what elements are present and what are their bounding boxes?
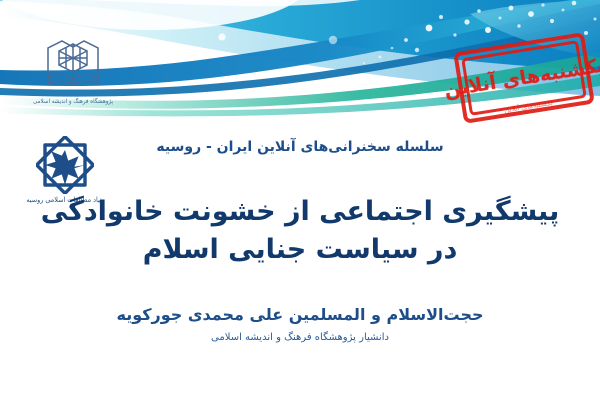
speaker-affiliation: دانشیار پژوهشگاه فرهنگ و اندیشه اسلامی bbox=[0, 331, 600, 345]
event-poster: پژوهشگاه فرهنگ و اندیشه اسلامی بنیاد مطا… bbox=[0, 0, 600, 400]
stamp-label: یکشنبه‌های آنلاین bbox=[443, 56, 600, 100]
logo-pazhuheshgah-caption: پژوهشگاه فرهنگ و اندیشه اسلامی bbox=[22, 98, 123, 106]
page-title: پیشگیری اجتماعی از خشونت خانوادگی در سیا… bbox=[0, 193, 600, 270]
speaker-name: حجت‌الاسلام و المسلمین علی محمدی جورکویه bbox=[0, 303, 600, 327]
logo-pazhuheshgah: پژوهشگاه فرهنگ و اندیشه اسلامی bbox=[18, 38, 128, 106]
title-line-2: در سیاست جنایی اسلام bbox=[0, 231, 600, 269]
title-line-1: پیشگیری اجتماعی از خشونت خانوادگی bbox=[0, 193, 600, 231]
series-subtitle: سلسله سخنرانی‌های آنلاین ایران - روسیه bbox=[0, 139, 600, 155]
speaker-info: حجت‌الاسلام و المسلمین علی محمدی جورکویه… bbox=[0, 303, 600, 345]
interlaced-knot-over-open-book-icon bbox=[42, 38, 104, 96]
